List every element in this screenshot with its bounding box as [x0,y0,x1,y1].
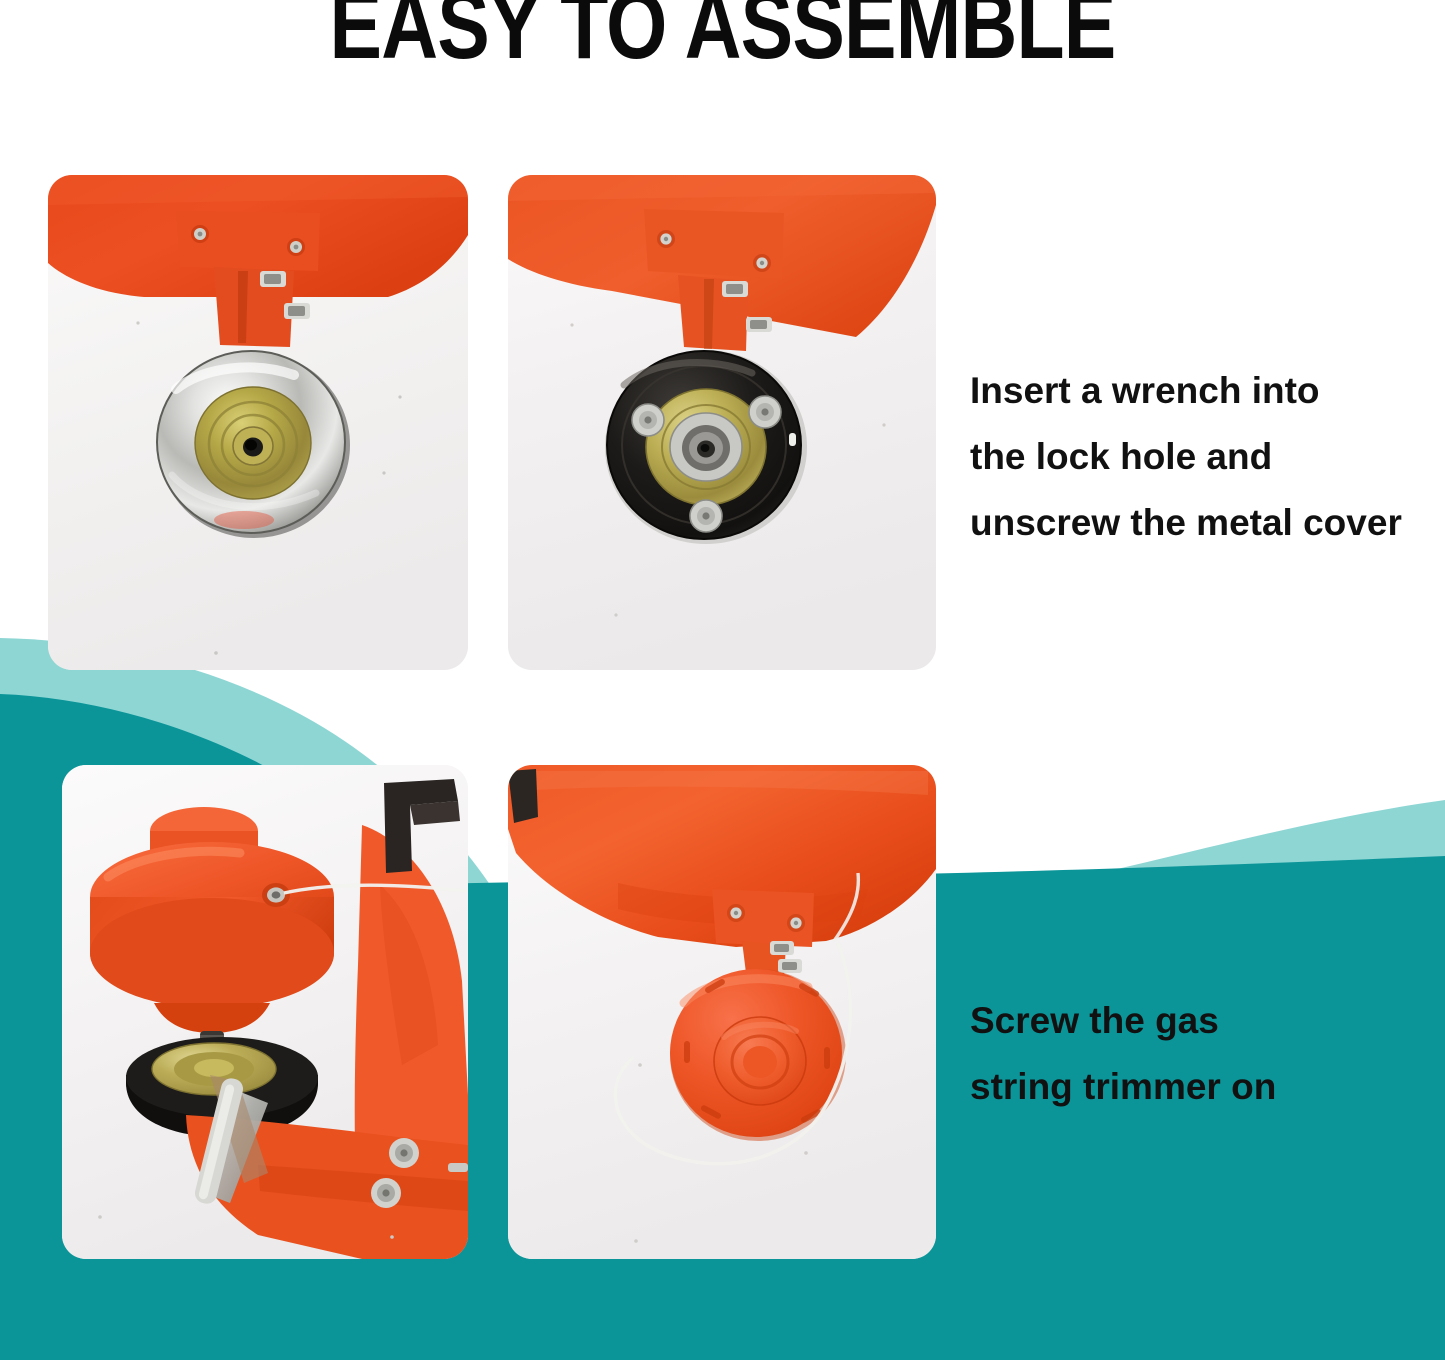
hub-bolt-right [749,396,781,428]
step-photo-1 [48,175,468,670]
caption-unscrew-cover: Insert a wrench into the lock hole and u… [970,358,1402,556]
caption-line: Insert a wrench into [970,358,1402,424]
photo-assembled-head [508,765,936,1259]
step-photo-3 [62,765,468,1259]
page-title: EASY TO ASSEMBLE [130,0,1315,74]
hub-bolt-bottom [690,500,722,532]
step-photo-2 [508,175,936,670]
gearbox-bolt-upper [389,1138,419,1168]
hub-bolt-left [632,404,664,436]
photo-metal-cover-installed [48,175,468,670]
gearbox-bolt-lower [371,1178,401,1208]
caption-line: Screw the gas [970,988,1276,1054]
photo-hub-exposed [508,175,936,670]
caption-line: string trimmer on [970,1054,1276,1120]
caption-screw-trimmer: Screw the gas string trimmer on [970,988,1276,1120]
caption-line: unscrew the metal cover [970,490,1402,556]
caption-line: the lock hole and [970,424,1402,490]
step-photo-4 [508,765,936,1259]
infographic-page: EASY TO ASSEMBLE [0,0,1445,1360]
photo-wrench-install [62,765,468,1259]
